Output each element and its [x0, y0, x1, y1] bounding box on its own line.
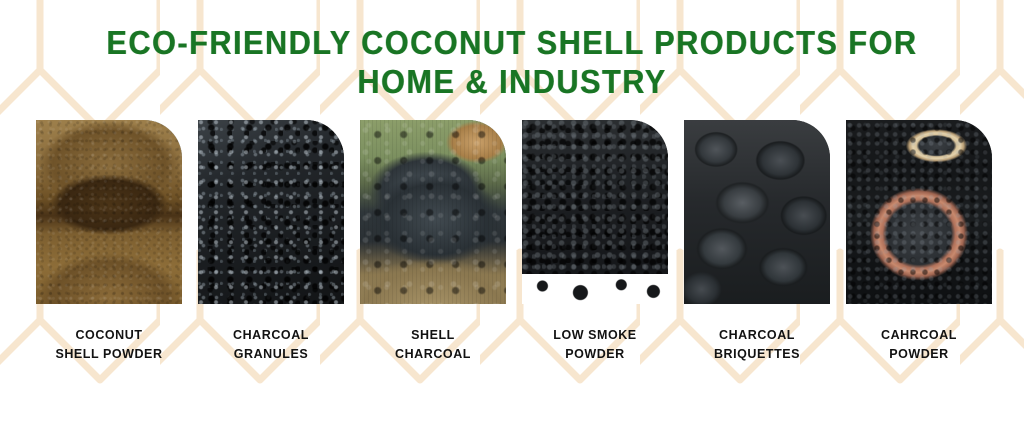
product-image-charcoal-powder — [846, 120, 992, 304]
product-card-low-smoke-powder[interactable]: LOW SMOKE POWDER — [522, 120, 668, 364]
product-card-charcoal-powder[interactable]: CAHRCOAL POWDER — [846, 120, 992, 364]
product-label-charcoal-briquettes: CHARCOAL BRIQUETTES — [714, 326, 800, 364]
product-photo-art — [684, 120, 830, 304]
product-card-coconut-shell-powder[interactable]: COCONUT SHELL POWDER — [36, 120, 182, 364]
product-photo-art — [198, 120, 344, 304]
product-image-shell-charcoal — [360, 120, 506, 304]
headline-line-1: ECO-FRIENDLY COCONUT SHELL PRODUCTS FOR — [36, 24, 988, 63]
product-banner: ECO-FRIENDLY COCONUT SHELL PRODUCTS FOR … — [0, 0, 1024, 437]
product-label-charcoal-granules: CHARCOAL GRANULES — [233, 326, 309, 364]
product-photo-art — [846, 120, 992, 304]
product-card-charcoal-granules[interactable]: CHARCOAL GRANULES — [198, 120, 344, 364]
product-label-low-smoke-powder: LOW SMOKE POWDER — [553, 326, 636, 364]
headline-line-2: HOME & INDUSTRY — [36, 63, 988, 102]
product-card-charcoal-briquettes[interactable]: CHARCOAL BRIQUETTES — [684, 120, 830, 364]
product-image-coconut-shell-powder — [36, 120, 182, 304]
product-label-coconut-shell-powder: COCONUT SHELL POWDER — [55, 326, 162, 364]
page-title: ECO-FRIENDLY COCONUT SHELL PRODUCTS FOR … — [0, 0, 1024, 102]
product-list: COCONUT SHELL POWDER CHARCOAL GRANULES S… — [0, 120, 1024, 364]
product-photo-art — [522, 120, 668, 304]
product-image-low-smoke-powder — [522, 120, 668, 304]
product-image-charcoal-granules — [198, 120, 344, 304]
product-card-shell-charcoal[interactable]: SHELL CHARCOAL — [360, 120, 506, 364]
product-photo-art — [36, 120, 182, 304]
product-label-shell-charcoal: SHELL CHARCOAL — [395, 326, 471, 364]
product-photo-art — [360, 120, 506, 304]
product-image-charcoal-briquettes — [684, 120, 830, 304]
product-label-charcoal-powder: CAHRCOAL POWDER — [881, 326, 957, 364]
